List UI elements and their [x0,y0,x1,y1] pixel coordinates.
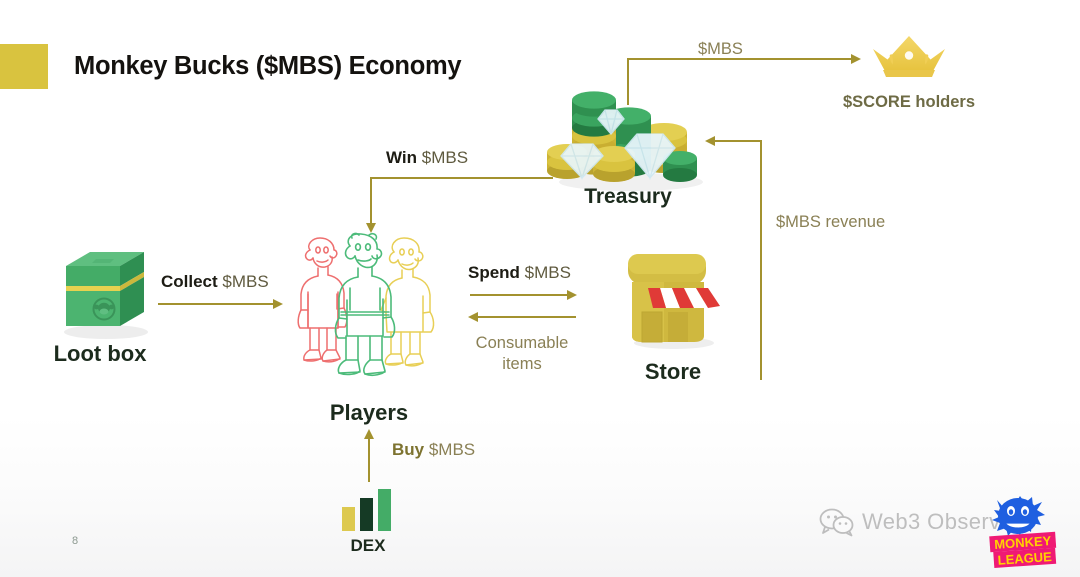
node-label-loot-box: Loot box [42,341,158,367]
node-label-dex: DEX [335,536,401,556]
slide-canvas: Monkey Bucks ($MBS) Economy $MBS $SCORE … [0,0,1080,577]
edge-label-consumable-line2: items [502,355,541,373]
edge-label-collect-rest: $MBS [218,272,269,291]
edge-revenue-segment-horizontal [715,140,761,142]
edge-label-win: Win $MBS [386,148,468,168]
coins-and-diamonds-icon [545,86,713,190]
treasure-chest-icon [52,248,156,340]
edge-label-payout: $MBS [698,40,743,59]
edge-label-consumable-line1: Consumable [476,334,569,352]
monkey-league-logo: MONKEY LEAGUE [984,494,1062,570]
edge-label-win-rest: $MBS [417,148,468,167]
edge-spend-line [470,294,568,296]
node-label-treasury: Treasury [548,185,708,209]
edge-win-segment-vertical [370,177,372,224]
edge-label-spend: Spend $MBS [468,263,571,283]
node-label-store: Store [620,359,726,385]
page-title: Monkey Bucks ($MBS) Economy [74,52,461,81]
edge-label-buy-bold: Buy [392,440,424,459]
node-label-players: Players [294,400,444,426]
edge-label-spend-bold: Spend [468,263,520,282]
edge-win-segment-horizontal [370,177,553,179]
node-label-score-holders: $SCORE holders [843,93,975,112]
edge-label-win-bold: Win [386,148,417,167]
title-accent-block [0,44,48,89]
edge-revenue-segment-vertical [760,140,762,380]
edge-revenue-arrowhead [705,136,715,146]
edge-label-consumable-items: Consumableitems [458,333,586,375]
edge-collect-arrowhead [273,299,283,309]
wechat-icon [820,508,854,536]
three-monkey-players-icon [288,232,452,380]
edge-consumable-arrowhead [468,312,478,322]
crown-icon [869,33,949,81]
edge-label-collect: Collect $MBS [161,272,269,292]
page-number: 8 [72,535,78,547]
edge-payout-arrowhead [851,54,861,64]
edge-collect-line [158,303,274,305]
edge-label-revenue: $MBS revenue [776,213,885,232]
edge-spend-arrowhead [567,290,577,300]
edge-consumable-line [478,316,576,318]
bar-chart-icon [340,487,396,531]
edge-label-collect-bold: Collect [161,272,218,291]
edge-buy-arrowhead [364,429,374,439]
logo-line2: LEAGUE [997,549,1052,568]
edge-buy-line [368,437,370,482]
edge-label-buy-rest: $MBS [424,440,475,459]
edge-label-spend-rest: $MBS [520,263,571,282]
shop-building-icon [620,250,726,350]
edge-label-buy: Buy $MBS [392,440,475,460]
